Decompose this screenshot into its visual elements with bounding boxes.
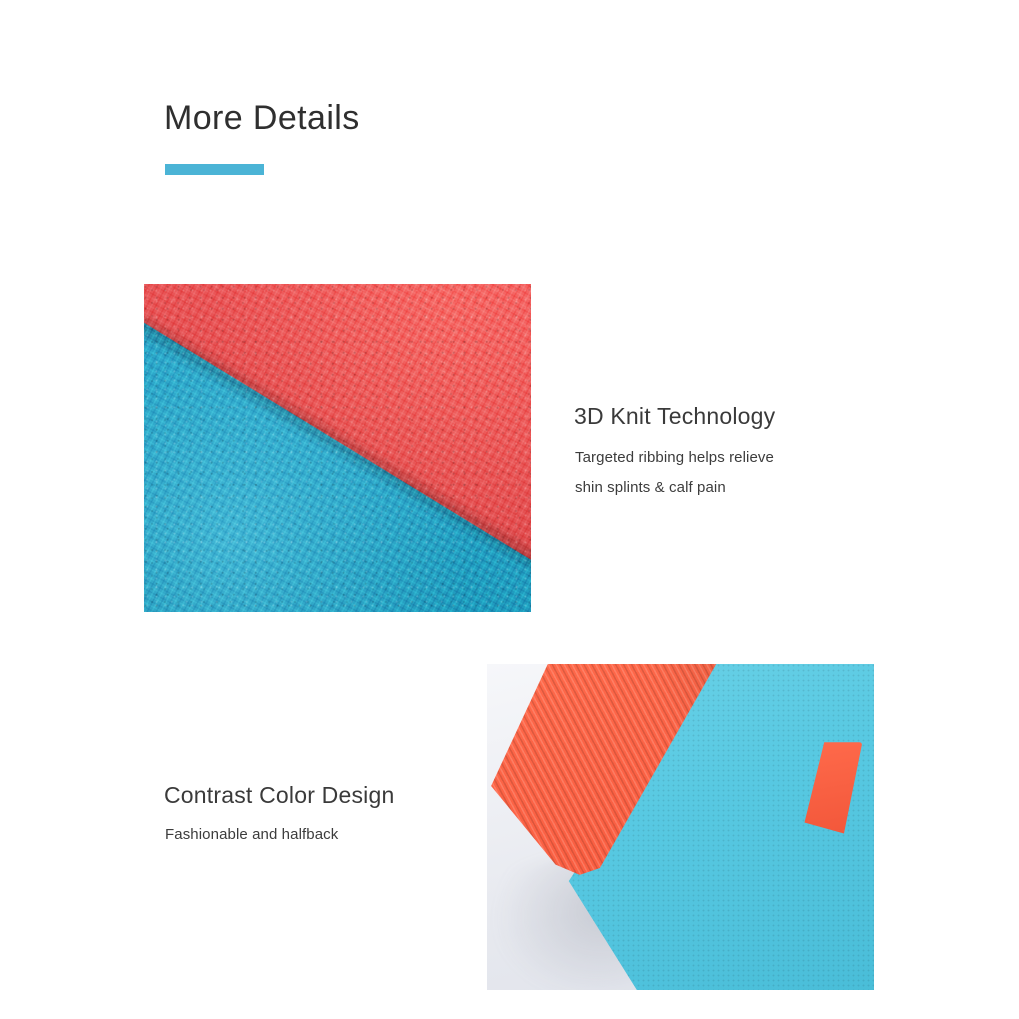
feature-heading-contrast-color: Contrast Color Design — [164, 780, 394, 810]
feature-body-line: Targeted ribbing helps relieve — [575, 443, 774, 473]
page-title: More Details — [164, 96, 360, 140]
feature-body-knit-technology: Targeted ribbing helps relieve shin spli… — [575, 443, 774, 503]
title-accent-bar — [165, 164, 264, 175]
feature-heading-knit-technology: 3D Knit Technology — [574, 401, 775, 431]
product-detail-page: More Details 3D Knit Technology Targeted… — [0, 0, 1019, 1019]
sock-contrast-image — [487, 664, 874, 990]
feature-body-line: Fashionable and halfback — [165, 820, 338, 850]
knit-fiber-grain — [144, 284, 531, 612]
knit-fabric-image — [144, 284, 531, 612]
feature-body-contrast-color: Fashionable and halfback — [165, 820, 338, 850]
feature-body-line: shin splints & calf pain — [575, 473, 774, 503]
